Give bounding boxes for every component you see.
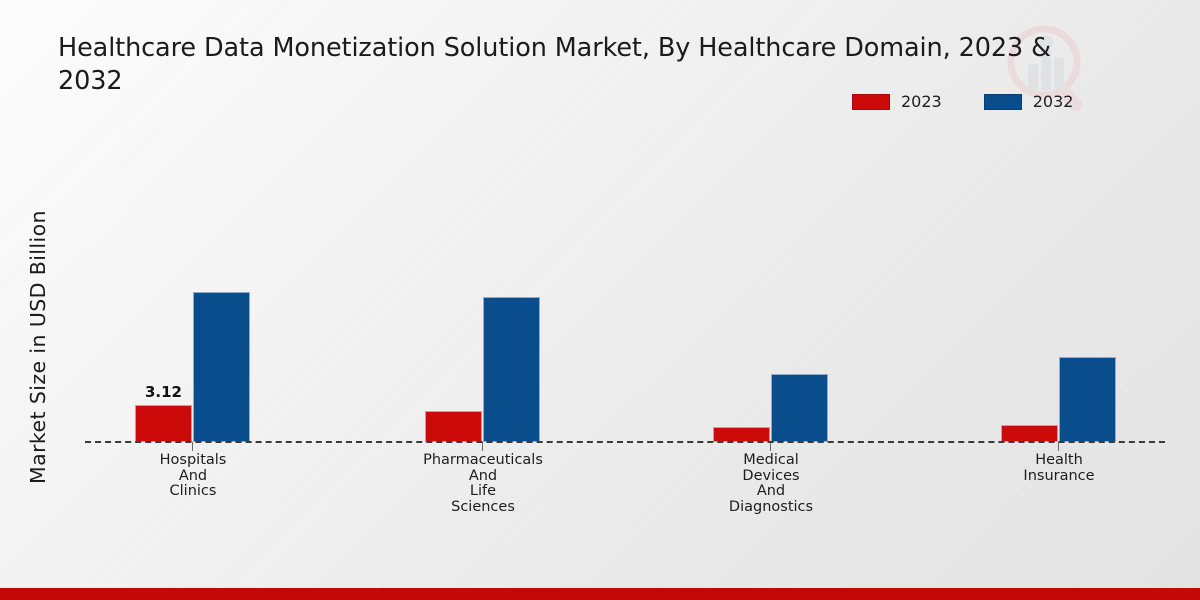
- legend-swatch-red: [852, 94, 890, 110]
- bar-group: Medical Devices And Diagnostics: [663, 150, 879, 442]
- bar-2023-hospitals-and-clinics[interactable]: [135, 405, 192, 442]
- bar-2032-medical-devices-and-diagnostics[interactable]: [771, 374, 828, 442]
- x-axis-tick: [770, 442, 771, 451]
- x-axis-tick: [1058, 442, 1059, 451]
- legend-swatch-blue: [984, 94, 1022, 110]
- chart-title: Healthcare Data Monetization Solution Ma…: [58, 32, 1200, 98]
- bar-group: Health Insurance: [951, 150, 1167, 442]
- bar-2032-health-insurance[interactable]: [1059, 357, 1116, 442]
- y-axis-title: Market Size in USD Billion: [26, 137, 50, 557]
- bar-group: 3.12 Hospitals And Clinics: [85, 150, 301, 442]
- legend-item-2023[interactable]: 2023: [852, 92, 942, 111]
- bar-2032-hospitals-and-clinics[interactable]: [193, 292, 250, 442]
- x-axis-label-hospitals-and-clinics: Hospitals And Clinics: [73, 453, 313, 500]
- bar-2023-medical-devices-and-diagnostics[interactable]: [713, 427, 770, 442]
- bar-2023-health-insurance[interactable]: [1001, 425, 1058, 442]
- chart-container: Healthcare Data Monetization Solution Ma…: [0, 0, 1200, 600]
- legend-item-2032[interactable]: 2032: [984, 92, 1074, 111]
- legend-label-2032: 2032: [1033, 92, 1074, 111]
- x-axis-label-pharmaceuticals-and-life-sciences: Pharmaceuticals And Life Sciences: [363, 453, 603, 515]
- bar-2032-pharmaceuticals-and-life-sciences[interactable]: [483, 297, 540, 442]
- x-axis-tick: [482, 442, 483, 451]
- bar-value-label: 3.12: [135, 383, 192, 401]
- footer-accent-bar: [0, 588, 1200, 600]
- legend-label-2023: 2023: [901, 92, 942, 111]
- x-axis-label-health-insurance: Health Insurance: [939, 453, 1179, 484]
- bar-2023-pharmaceuticals-and-life-sciences[interactable]: [425, 411, 482, 442]
- x-axis-baseline: [85, 441, 1165, 443]
- chart-legend: 2023 2032: [852, 92, 1073, 111]
- bar-group: Pharmaceuticals And Life Sciences: [375, 150, 591, 442]
- x-axis-label-medical-devices-and-diagnostics: Medical Devices And Diagnostics: [651, 453, 891, 515]
- x-axis-tick: [192, 442, 193, 451]
- plot-area: 3.12 Hospitals And Clinics Pharmaceutica…: [85, 150, 1165, 442]
